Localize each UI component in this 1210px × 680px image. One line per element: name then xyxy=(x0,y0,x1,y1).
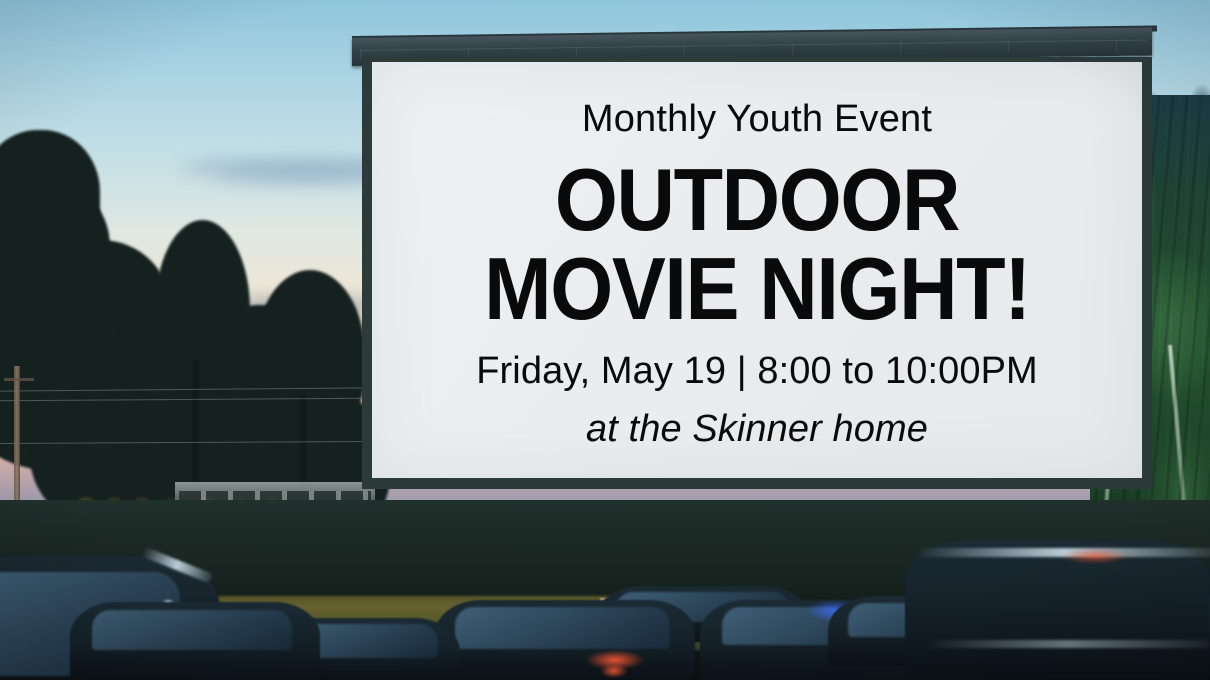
event-eyebrow: Monthly Youth Event xyxy=(372,98,1142,141)
utility-pole xyxy=(14,366,20,511)
event-headline-line1: OUTDOOR xyxy=(403,156,1111,244)
van-silhouette xyxy=(905,540,1210,680)
treeline-left xyxy=(0,120,390,540)
van-body-highlight xyxy=(925,640,1210,648)
event-venue: at the Skinner home xyxy=(372,408,1142,451)
van-marker-light xyxy=(1060,548,1130,564)
poster-canvas: Monthly Youth Event OUTDOOR MOVIE NIGHT!… xyxy=(0,0,1210,680)
car-window xyxy=(455,607,670,649)
car-taillight xyxy=(600,664,628,678)
car-window xyxy=(92,610,292,650)
event-headline-line2: MOVIE NIGHT! xyxy=(403,245,1111,333)
event-datetime: Friday, May 19 | 8:00 to 10:00PM xyxy=(372,350,1142,393)
utility-pole-crossarm xyxy=(4,378,34,381)
